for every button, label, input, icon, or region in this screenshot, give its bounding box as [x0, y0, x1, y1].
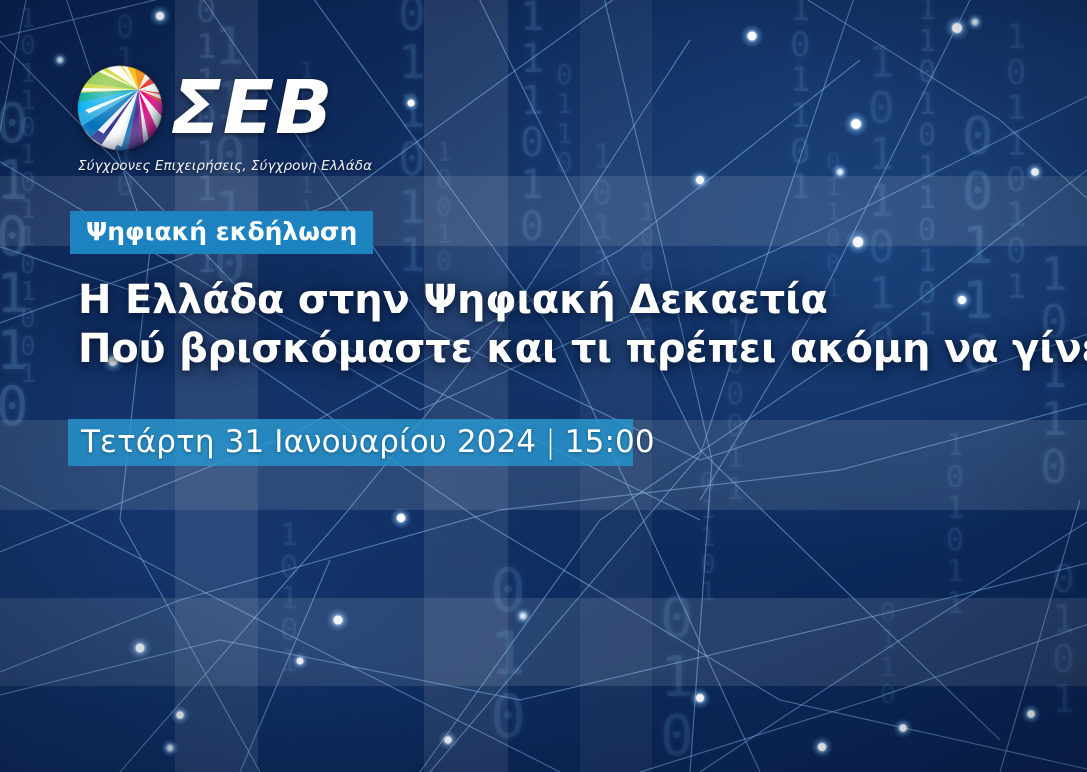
seb-tagline: Σύγχρονες Επιχειρήσεις, Σύγχρονη Ελλάδα [78, 158, 372, 174]
seb-wordmark: ΣΕΒ [170, 71, 333, 145]
event-datetime-text: Τετάρτη 31 Ιανουαρίου 2024|15:00 [68, 427, 655, 458]
title-line-2: Πού βρισκόμαστε και τι πρέπει ακόμη να γ… [78, 325, 1087, 374]
title-line-1: Η Ελλάδα στην Ψηφιακή Δεκαετία [78, 276, 1087, 325]
poster-title: Η Ελλάδα στην Ψηφιακή Δεκαετία Πού βρισκ… [78, 276, 1087, 374]
event-poster: 0 1 0 1 1 0 1 0 1 1 0 1 0 1 1 0 1 0 0 1 … [0, 0, 1087, 772]
seb-logo[interactable]: ΣΕΒ Σύγχρονες Επιχειρήσεις, Σύγχρονη Ελλ… [74, 62, 372, 174]
event-type-badge: Ψηφιακή εκδήλωση [70, 211, 373, 254]
event-date: Τετάρτη 31 Ιανουαρίου 2024 [81, 424, 536, 460]
event-time: 15:00 [565, 424, 655, 460]
datetime-separator: | [536, 424, 565, 460]
globe-icon [74, 62, 166, 154]
event-datetime-bar: Τετάρτη 31 Ιανουαρίου 2024|15:00 [68, 419, 633, 466]
event-type-badge-label: Ψηφιακή εκδήλωση [86, 217, 357, 246]
